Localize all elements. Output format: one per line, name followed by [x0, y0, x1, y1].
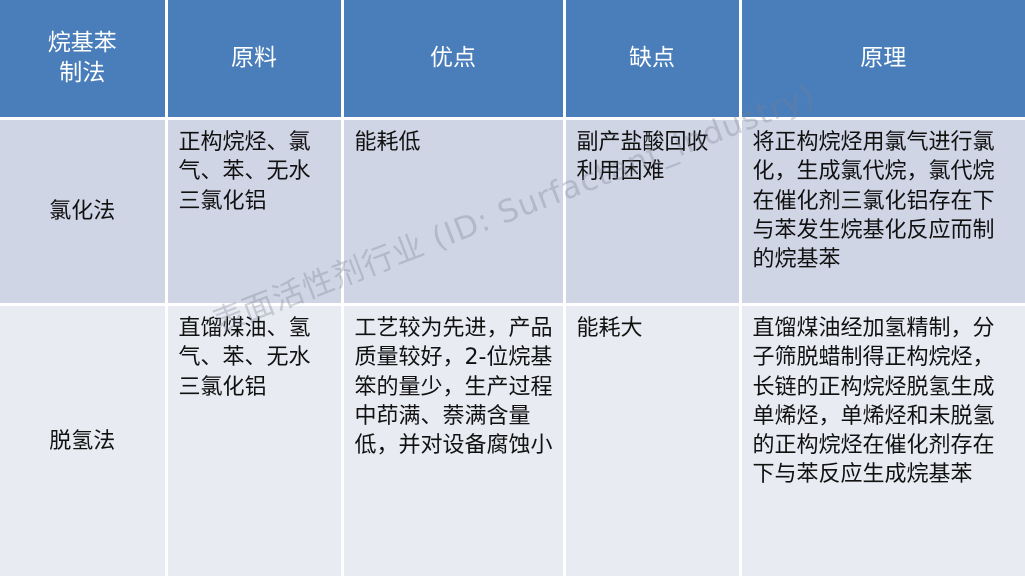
cell-advantages: 能耗低: [342, 119, 564, 305]
cell-raw-materials: 直馏煤油、氢气、苯、无水三氯化铝: [166, 305, 342, 576]
table-body: 氯化法 正构烷烃、氯气、苯、无水三氯化铝 能耗低 副产盐酸回收利用困难 将正构烷…: [0, 119, 1025, 576]
column-header-method: 烷基苯 制法: [0, 0, 166, 119]
cell-disadvantages: 副产盐酸回收利用困难: [564, 119, 740, 305]
header-row: 烷基苯 制法 原料 优点 缺点 原理: [0, 0, 1025, 119]
table-header: 烷基苯 制法 原料 优点 缺点 原理: [0, 0, 1025, 119]
table-row: 脱氢法 直馏煤油、氢气、苯、无水三氯化铝 工艺较为先进，产品质量较好，2-位烷基…: [0, 305, 1025, 576]
cell-principle: 直馏煤油经加氢精制，分子筛脱蜡制得正构烷烃，长链的正构烷烃脱氢生成单烯烃，单烯烃…: [740, 305, 1025, 576]
cell-method: 氯化法: [0, 119, 166, 305]
column-header-disadvantages: 缺点: [564, 0, 740, 119]
alkylbenzene-process-comparison-table: 烷基苯 制法 原料 优点 缺点 原理 氯化法 正构烷烃、氯气、苯、无水三氯化铝 …: [0, 0, 1025, 576]
column-header-method-line2: 制法: [6, 59, 159, 88]
column-header-advantages: 优点: [342, 0, 564, 119]
cell-principle: 将正构烷烃用氯气进行氯化，生成氯代烷，氯代烷在催化剂三氯化铝存在下与苯发生烷基化…: [740, 119, 1025, 305]
cell-disadvantages: 能耗大: [564, 305, 740, 576]
column-header-raw-materials: 原料: [166, 0, 342, 119]
cell-advantages: 工艺较为先进，产品质量较好，2-位烷基笨的量少，生产过程中茚满、萘满含量低，并对…: [342, 305, 564, 576]
table-container: 烷基苯 制法 原料 优点 缺点 原理 氯化法 正构烷烃、氯气、苯、无水三氯化铝 …: [0, 0, 1025, 576]
table-row: 氯化法 正构烷烃、氯气、苯、无水三氯化铝 能耗低 副产盐酸回收利用困难 将正构烷…: [0, 119, 1025, 305]
column-header-principle: 原理: [740, 0, 1025, 119]
column-header-method-line1: 烷基苯: [6, 29, 159, 58]
cell-method: 脱氢法: [0, 305, 166, 576]
cell-raw-materials: 正构烷烃、氯气、苯、无水三氯化铝: [166, 119, 342, 305]
